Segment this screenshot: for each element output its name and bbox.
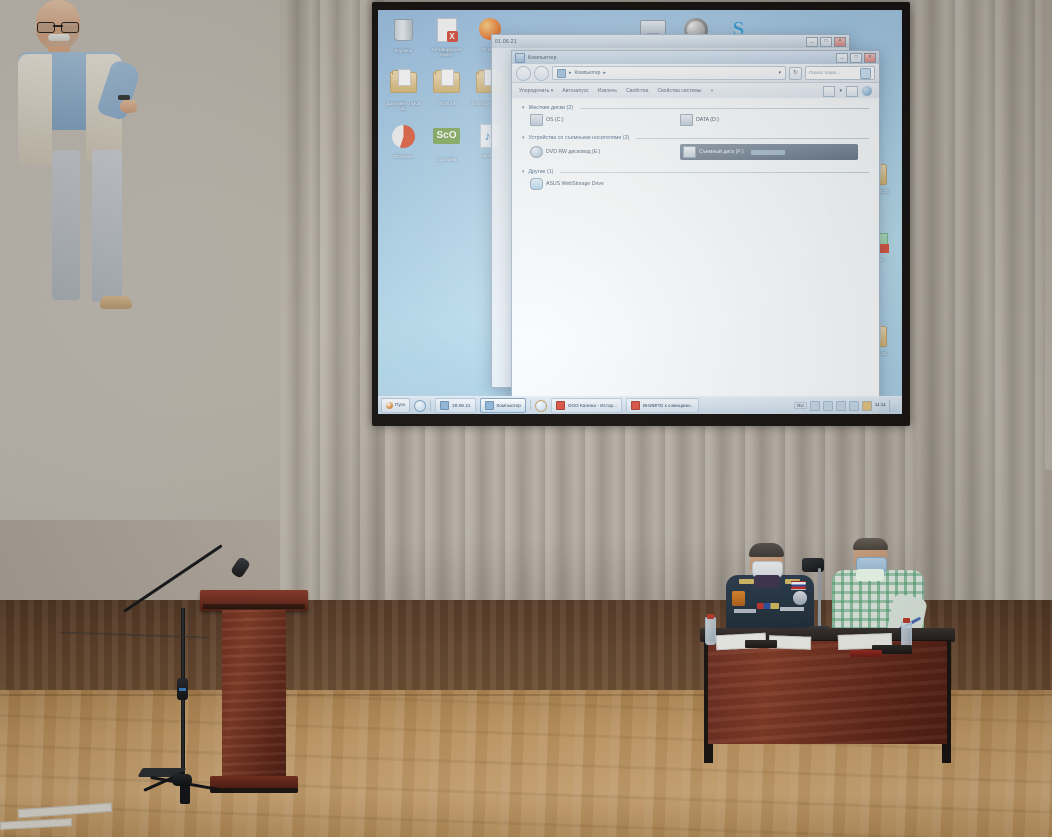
explorer-titlebar[interactable]: Компьютер _ □ × bbox=[512, 51, 879, 64]
windows-orb-icon bbox=[386, 402, 393, 409]
explorer-window-title: Компьютер bbox=[528, 55, 557, 61]
pdf-icon bbox=[631, 401, 640, 410]
quick-launch-browser-icon[interactable] bbox=[414, 400, 426, 412]
scanner-icon: ScO bbox=[432, 128, 462, 156]
hard-drive-icon bbox=[530, 114, 543, 126]
drive-group-hard-disks: ▾ Жесткие диски (2) OS (C:) DATA ( bbox=[522, 105, 869, 132]
breadcrumb-separator: ▸ bbox=[569, 70, 572, 76]
projection-screen-surface[interactable]: Корзина X Антивирусная Крипт Firefox Ком… bbox=[378, 10, 902, 414]
drive-item[interactable]: DATA (D:) bbox=[680, 114, 830, 126]
floor-microphone-stand bbox=[120, 530, 250, 805]
system-tray[interactable]: RU 11:11 bbox=[794, 400, 899, 412]
minimize-icon[interactable]: _ bbox=[806, 37, 818, 47]
microphone-icon bbox=[230, 556, 251, 579]
group-title: Жесткие диски (2) bbox=[529, 105, 573, 111]
service-tape bbox=[734, 609, 756, 613]
taskbar-item-folder[interactable]: 29.06.21 bbox=[435, 398, 475, 413]
background-window-controls[interactable]: _ □ × bbox=[806, 37, 846, 47]
drive-item-selected[interactable]: Съемный диск (F:) bbox=[680, 144, 858, 160]
breadcrumb-separator: ▸ bbox=[603, 70, 606, 76]
search-input[interactable]: Поиск: Комп... bbox=[805, 66, 875, 80]
change-view-icon[interactable] bbox=[823, 86, 835, 97]
desktop-icon-documents[interactable]: Документы Мои об... bbox=[382, 68, 425, 112]
group-items[interactable]: OS (C:) DATA (D:) bbox=[522, 111, 869, 132]
close-icon[interactable]: × bbox=[834, 37, 846, 47]
desktop-icon-label: Документы Мои об... bbox=[382, 101, 425, 112]
maximize-icon[interactable]: □ bbox=[850, 53, 862, 63]
taskbar-item-label: ВНИИПО к совещани... bbox=[643, 403, 694, 408]
emercom-shoulder-patch bbox=[732, 591, 745, 606]
chevron-down-icon[interactable]: ▾ bbox=[839, 88, 842, 94]
recycle-bin-icon bbox=[389, 19, 419, 47]
folder-icon bbox=[432, 72, 462, 100]
start-label: Пуск bbox=[395, 403, 405, 408]
taskbar-separator bbox=[530, 400, 531, 411]
desktop-icon-label: Антивирусная Крипт bbox=[425, 47, 468, 58]
mic-gooseneck bbox=[818, 568, 821, 628]
drive-label: DVD RW дисковод (E:) bbox=[546, 149, 600, 155]
drive-label: Съемный диск (F:) bbox=[699, 149, 744, 155]
eyeglasses-icon bbox=[37, 22, 79, 31]
desktop-icon-scanwin[interactable]: ScO ScanWIN bbox=[425, 122, 468, 162]
drive-item[interactable]: OS (C:) bbox=[530, 114, 680, 126]
shoulder-tab bbox=[739, 579, 754, 584]
desktop-icon-ccleaner[interactable]: CCleaner bbox=[382, 122, 425, 162]
chevron-down-icon[interactable]: ▾ bbox=[522, 105, 525, 111]
cloud-drive-icon bbox=[530, 178, 543, 190]
explorer-window-controls[interactable]: _ □ × bbox=[836, 53, 876, 63]
civilian-hair bbox=[853, 538, 888, 550]
preview-pane-icon[interactable] bbox=[846, 86, 858, 97]
windows-taskbar[interactable]: Пуск 29.06.21 Компьютер ООО Калина - Ист… bbox=[378, 396, 902, 414]
desktop-icon-label: CCleaner bbox=[382, 154, 425, 159]
group-rule bbox=[560, 172, 869, 173]
volume-icon[interactable] bbox=[849, 401, 859, 411]
breadcrumb-root[interactable]: Компьютер bbox=[575, 70, 601, 76]
dvd-drive-icon bbox=[530, 146, 543, 158]
explorer-app-icon bbox=[515, 53, 525, 63]
start-button[interactable]: Пуск bbox=[381, 398, 410, 413]
speaker-moustache bbox=[48, 34, 70, 41]
capacity-bar bbox=[751, 150, 785, 155]
document-icon: X bbox=[432, 18, 462, 46]
maximize-icon[interactable]: □ bbox=[820, 37, 832, 47]
speaker-right-hand bbox=[120, 100, 137, 113]
speaker-trousers-left bbox=[52, 150, 80, 300]
chevron-down-icon[interactable]: ▾ bbox=[778, 70, 781, 76]
yandex-icon[interactable] bbox=[535, 400, 547, 412]
explorer-window[interactable]: Компьютер _ □ × ▸ Компьютер ▸ bbox=[511, 50, 880, 414]
overflow-chevron-icon[interactable]: » bbox=[710, 88, 713, 94]
computer-icon bbox=[557, 69, 566, 78]
taskbar-item-label: Компьютер bbox=[497, 403, 521, 408]
close-icon[interactable]: × bbox=[864, 53, 876, 63]
taskbar-separator bbox=[430, 400, 431, 411]
desktop-icon-label: 29.06.19 bbox=[425, 101, 468, 106]
folder-icon bbox=[440, 401, 449, 410]
chevron-down-icon: ▾ bbox=[551, 88, 554, 94]
red-book bbox=[850, 650, 882, 657]
group-items[interactable]: ASUS WebStorage Drive bbox=[522, 175, 869, 196]
desktop-icon-label: Корзина bbox=[382, 48, 425, 53]
speaker-trousers-right bbox=[92, 150, 122, 302]
taskbar-item-kalina[interactable]: ООО Калина - Истор... bbox=[551, 398, 622, 413]
language-indicator[interactable]: RU bbox=[794, 402, 807, 409]
desktop-icon-label: ScanWIN bbox=[425, 157, 468, 162]
desktop-icon-recycle-bin[interactable]: Корзина bbox=[382, 16, 425, 58]
network-icon[interactable] bbox=[823, 401, 833, 411]
drive-group-other: ▾ Другие (1) ASUS WebStorage Drive bbox=[522, 169, 869, 196]
folder-icon bbox=[389, 72, 419, 100]
explorer-content-pane[interactable]: ▾ Жесткие диски (2) OS (C:) DATA ( bbox=[512, 98, 879, 414]
taskbar-item-label: ООО Калина - Истор... bbox=[568, 403, 617, 408]
speaker-vest-left bbox=[18, 54, 52, 166]
water-bottle bbox=[705, 617, 716, 645]
group-title: Другие (1) bbox=[529, 169, 554, 175]
background-window-titlebar[interactable]: 01.06.21 _ □ × bbox=[492, 35, 849, 48]
organize-menu[interactable]: Упорядочить ▾ bbox=[519, 88, 553, 94]
address-breadcrumb[interactable]: ▸ Компьютер ▸ ▾ bbox=[552, 66, 786, 80]
usb-icon[interactable] bbox=[862, 401, 872, 411]
taskbar-item-label: 29.06.21 bbox=[452, 403, 470, 408]
group-items[interactable]: DVD RW дисковод (E:) Съемный диск (F:) bbox=[522, 141, 869, 166]
ccleaner-icon bbox=[389, 125, 419, 153]
usb-drive-icon bbox=[683, 146, 696, 158]
minimize-icon[interactable]: _ bbox=[836, 53, 848, 63]
officer-tshirt-collar bbox=[754, 575, 780, 588]
chevron-down-icon[interactable]: ▾ bbox=[522, 169, 525, 175]
group-rule bbox=[636, 138, 869, 139]
background-window-title: 01.06.21 bbox=[495, 39, 517, 45]
pdf-icon bbox=[556, 401, 565, 410]
conference-hall-photo: Корзина X Антивирусная Крипт Firefox Ком… bbox=[0, 0, 1052, 837]
hard-drive-icon bbox=[680, 114, 693, 126]
explorer-navigation-bar[interactable]: ▸ Компьютер ▸ ▾ ↻ Поиск: Комп... bbox=[512, 64, 879, 83]
name-tape bbox=[780, 607, 804, 611]
group-rule bbox=[580, 108, 869, 109]
explorer-icon bbox=[485, 401, 494, 410]
command-bar-right[interactable]: ▾ bbox=[823, 86, 872, 97]
dark-folder bbox=[745, 640, 777, 648]
mic-height-clamp bbox=[177, 678, 188, 700]
windows-desktop[interactable]: Корзина X Антивирусная Крипт Firefox Ком… bbox=[378, 10, 902, 414]
taskbar-clock[interactable]: 11:11 bbox=[875, 403, 886, 408]
shirt-collar bbox=[856, 569, 884, 581]
group-title: Устройства со съемными носителями (2) bbox=[529, 135, 630, 141]
table-front-panel bbox=[708, 641, 947, 744]
mic-tripod-hub bbox=[172, 774, 192, 786]
search-icon[interactable] bbox=[860, 68, 871, 79]
drive-item[interactable]: ASUS WebStorage Drive bbox=[530, 178, 730, 190]
show-desktop-button[interactable] bbox=[889, 400, 897, 412]
mic-boom-arm bbox=[123, 544, 223, 612]
back-icon[interactable] bbox=[516, 66, 531, 81]
taskbar-item-vniipo[interactable]: ВНИИПО к совещани... bbox=[626, 398, 699, 413]
properties-button[interactable]: Свойства bbox=[626, 88, 648, 94]
antivirus-icon[interactable] bbox=[810, 401, 820, 411]
drive-label: OS (C:) bbox=[546, 117, 564, 123]
eject-button[interactable]: Извлечь bbox=[598, 88, 618, 94]
service-ribbon-bar bbox=[757, 603, 779, 609]
drive-group-removable: ▾ Устройства со съемными носителями (2) … bbox=[522, 135, 869, 166]
speaker-shoe bbox=[100, 296, 132, 309]
drive-label: ASUS WebStorage Drive bbox=[546, 181, 604, 187]
drive-label: DATA (D:) bbox=[696, 117, 719, 123]
system-properties-button[interactable]: Свойства системы bbox=[657, 88, 701, 94]
stage-curtain-right bbox=[915, 0, 1045, 610]
action-center-icon[interactable] bbox=[836, 401, 846, 411]
officer-hair bbox=[749, 543, 784, 557]
drive-item[interactable]: DVD RW дисковод (E:) bbox=[530, 144, 680, 160]
desktop-icon-folder-2906[interactable]: 29.06.19 bbox=[425, 68, 468, 112]
search-placeholder: Поиск: Комп... bbox=[809, 71, 840, 76]
chevron-down-icon[interactable]: ▾ bbox=[522, 135, 525, 141]
refresh-icon[interactable]: ↻ bbox=[789, 67, 802, 80]
autoplay-button[interactable]: Автозапуск bbox=[562, 88, 588, 94]
stage-curtain-left bbox=[280, 0, 385, 640]
forward-icon[interactable] bbox=[534, 66, 549, 81]
taskbar-item-computer[interactable]: Компьютер bbox=[480, 398, 526, 413]
help-icon[interactable] bbox=[862, 86, 872, 96]
desktop-icon-antivirus-doc[interactable]: X Антивирусная Крипт bbox=[425, 16, 468, 58]
